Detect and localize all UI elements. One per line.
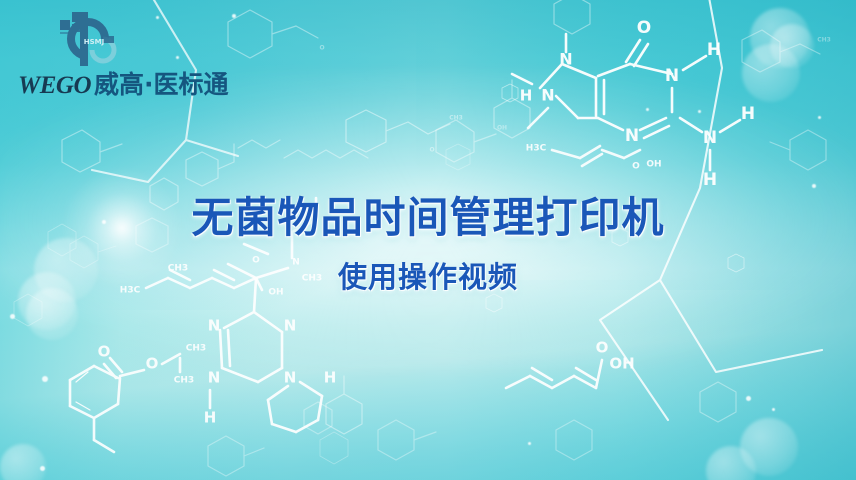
light-speck-6: [698, 110, 701, 113]
brand-cjk-first: 威高: [94, 72, 144, 97]
bokeh-circle-6: [742, 44, 800, 102]
title-block: 无菌物品时间管理打印机 使用操作视频: [0, 196, 856, 296]
logo-inner-text: HSMJ: [84, 38, 104, 46]
brand-logo-lockup: HSMJ WEGO 威高 · 医标通: [18, 12, 218, 98]
brand-latin-text: WEGO: [18, 73, 91, 98]
title-card-slide: .ln { fill:none; stroke:#ffffff; stroke-…: [0, 0, 856, 480]
light-speck-7: [646, 108, 649, 111]
light-speck-2: [42, 376, 48, 382]
logo-mark-svg: HSMJ: [58, 12, 128, 70]
light-speck-1: [10, 314, 15, 319]
light-speck-14: [528, 442, 531, 445]
light-speck-8: [818, 116, 821, 119]
brand-separator: ·: [144, 72, 154, 97]
main-title: 无菌物品时间管理打印机: [0, 196, 856, 240]
sub-title: 使用操作视频: [0, 254, 856, 296]
brand-cjk-second: 医标通: [154, 72, 229, 97]
brand-wordmark: WEGO 威高 · 医标通: [18, 72, 218, 98]
light-speck-3: [40, 466, 45, 471]
light-speck-9: [812, 184, 816, 188]
light-speck-5: [772, 408, 775, 411]
light-speck-4: [746, 396, 751, 401]
wego-cross-b-logo-icon: HSMJ: [58, 12, 128, 70]
light-speck-12: [232, 14, 236, 18]
